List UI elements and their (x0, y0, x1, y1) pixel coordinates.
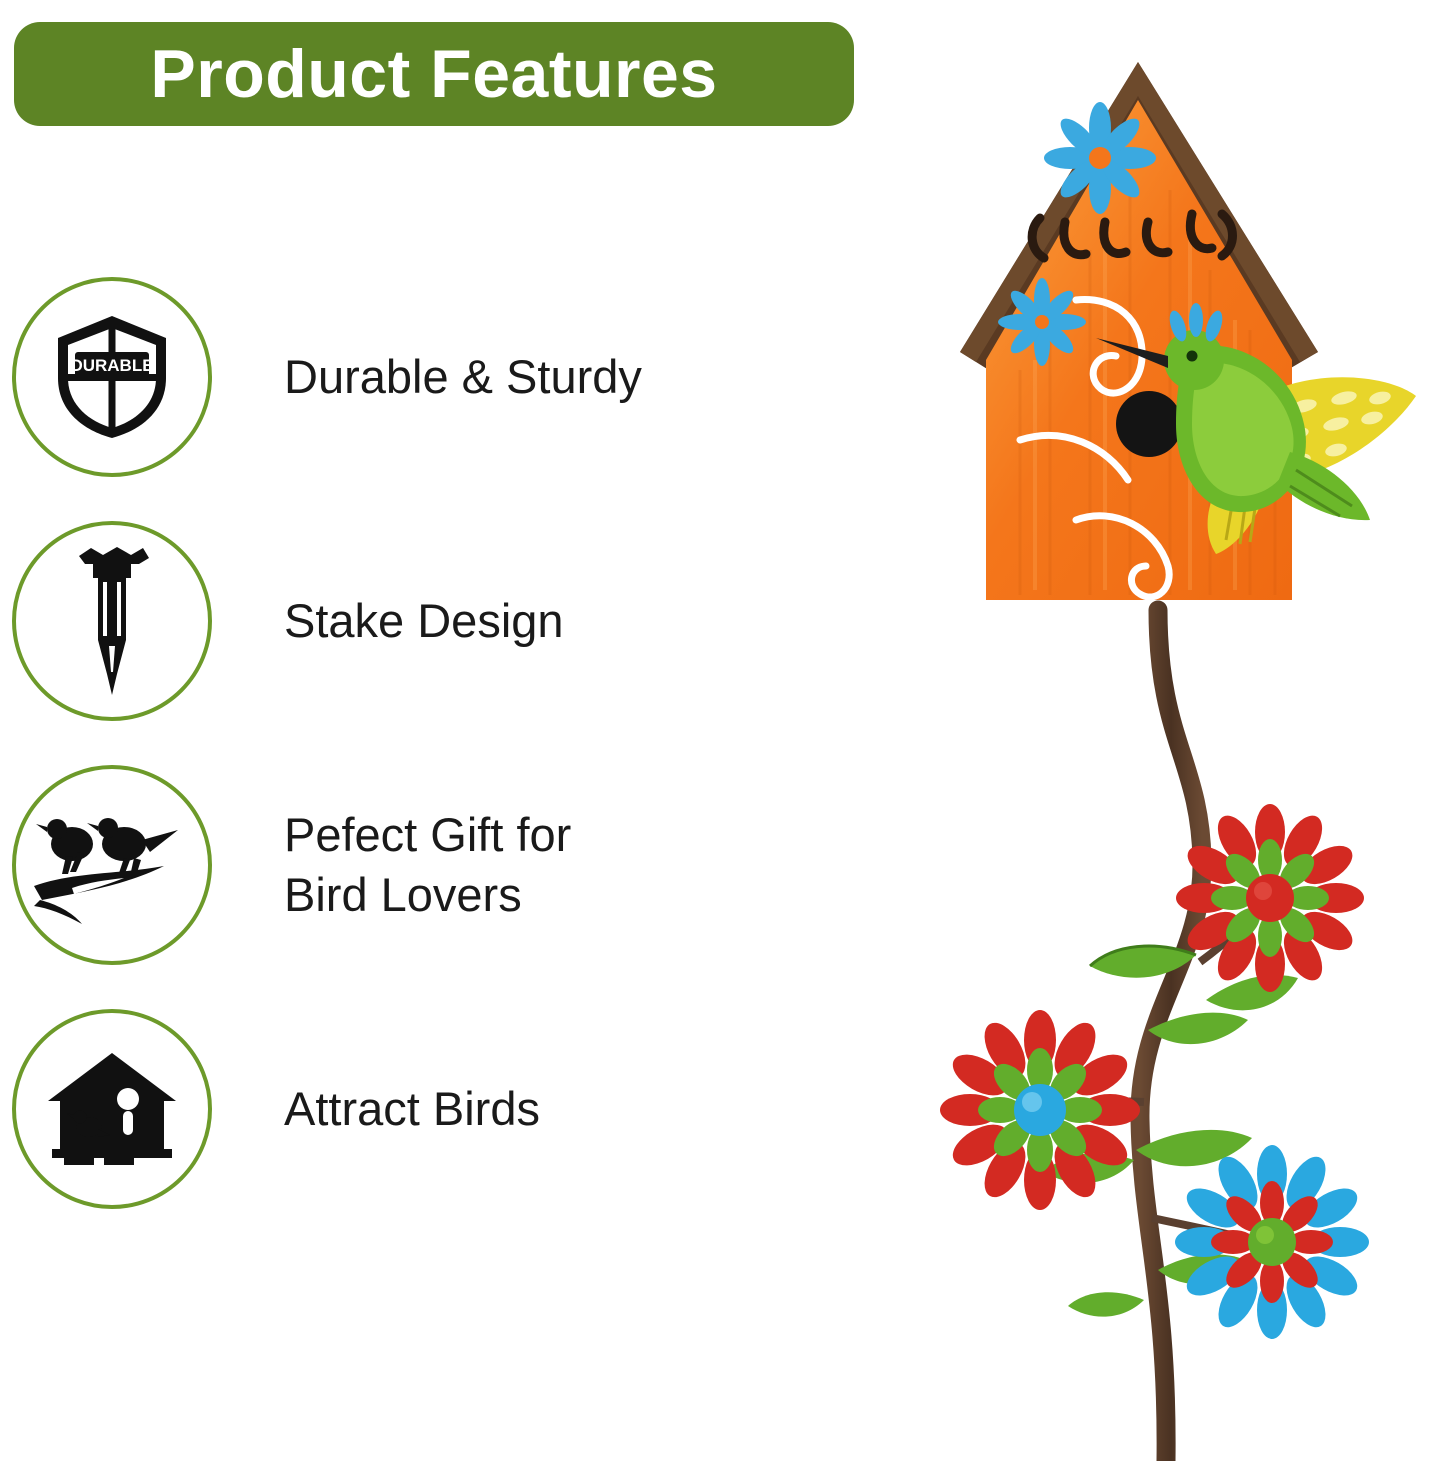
feature-icon-wrap: DURABLE (0, 277, 224, 477)
feature-icon-circle (12, 521, 212, 721)
metal-flower-bottom (1175, 1145, 1369, 1339)
birdhouse-stake-illustration (900, 0, 1445, 1461)
feature-item-gift: Pefect Gift for Bird Lovers (0, 743, 880, 987)
shield-durable-icon: DURABLE (52, 312, 172, 442)
feature-icon-circle: DURABLE (12, 277, 212, 477)
feature-label-gift: Pefect Gift for Bird Lovers (224, 805, 571, 925)
feature-label-durable: Durable & Sturdy (224, 347, 642, 407)
feature-icon-circle (12, 1009, 212, 1209)
feature-label-gift-line2: Bird Lovers (284, 868, 522, 921)
birdhouse-icon (42, 1049, 182, 1169)
feature-list: DURABLE Durable & Sturdy Stake Design (0, 255, 880, 1231)
product-image (900, 0, 1445, 1461)
feature-icon-wrap (0, 1009, 224, 1209)
shield-icon-label: DURABLE (70, 356, 153, 375)
page-title: Product Features (150, 40, 717, 108)
feature-icon-wrap (0, 765, 224, 965)
metal-flower-middle (940, 1010, 1140, 1210)
feature-label-gift-line1: Pefect Gift for (284, 808, 571, 861)
birds-on-branch-icon (32, 800, 192, 930)
feature-icon-wrap (0, 521, 224, 721)
page-title-badge: Product Features (14, 22, 854, 126)
stake-icon (57, 546, 167, 696)
feature-icon-circle (12, 765, 212, 965)
birdhouse-entrance-hole (1116, 391, 1182, 457)
feature-item-attract: Attract Birds (0, 987, 880, 1231)
feature-label-attract: Attract Birds (224, 1079, 540, 1139)
feature-item-durable: DURABLE Durable & Sturdy (0, 255, 880, 499)
feature-label-stake: Stake Design (224, 591, 564, 651)
feature-item-stake: Stake Design (0, 499, 880, 743)
